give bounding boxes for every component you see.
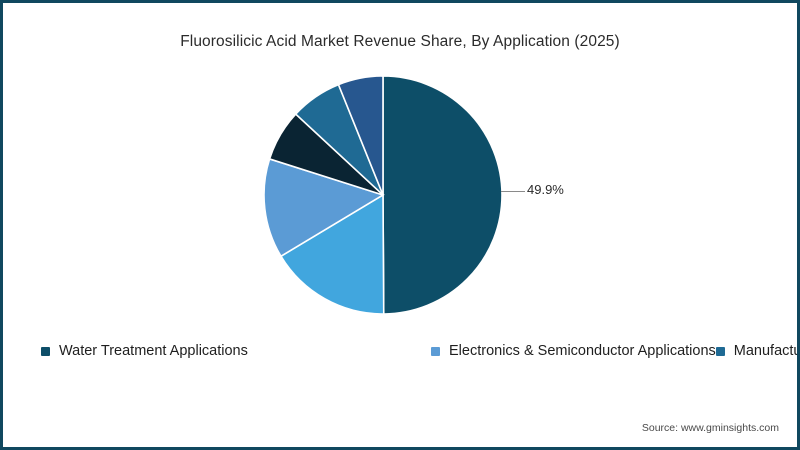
- legend-item[interactable]: Manufacturing Applications: [716, 344, 800, 359]
- pie-chart: [263, 75, 503, 315]
- slice-percent-label: 49.9%: [527, 182, 564, 197]
- label-leader-line: [501, 191, 525, 192]
- pie-slice[interactable]: [383, 76, 502, 314]
- legend-swatch-icon: [41, 347, 50, 356]
- legend-item[interactable]: Electronics & Semiconductor Applications: [431, 344, 716, 359]
- legend-label: Water Treatment Applications: [59, 344, 248, 359]
- legend-swatch-icon: [431, 347, 440, 356]
- source-note: Source: www.gminsights.com: [642, 422, 779, 434]
- legend-item[interactable]: Water Treatment Applications: [41, 344, 431, 359]
- pie-svg: [263, 75, 503, 315]
- legend-label: Electronics & Semiconductor Applications: [449, 344, 716, 359]
- chart-title: Fluorosilicic Acid Market Revenue Share,…: [3, 33, 797, 51]
- legend-label: Manufacturing Applications: [734, 344, 800, 359]
- chart-legend: Water Treatment ApplicationsElectronics …: [41, 336, 741, 366]
- legend-swatch-icon: [716, 347, 725, 356]
- chart-card: Fluorosilicic Acid Market Revenue Share,…: [0, 0, 800, 450]
